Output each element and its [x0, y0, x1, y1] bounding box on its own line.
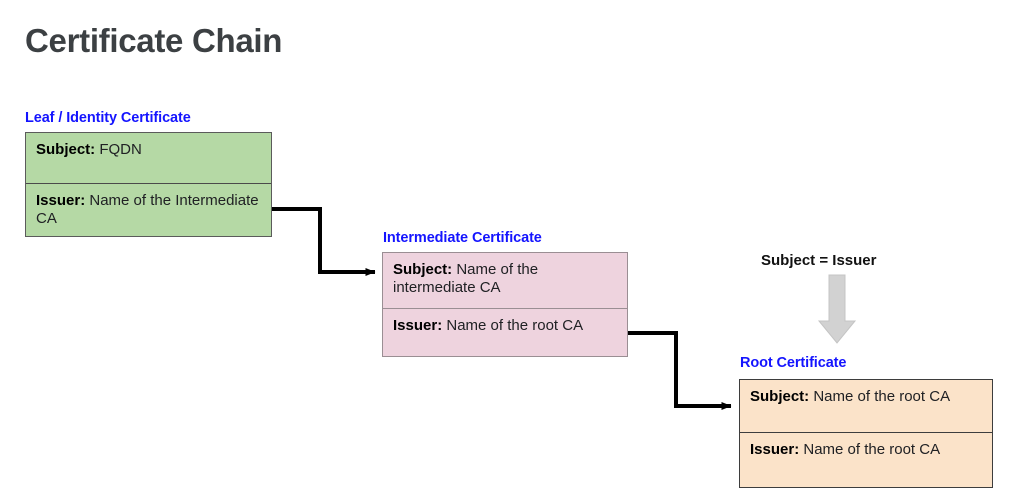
intermediate-issuer-value: Name of the root CA: [446, 317, 583, 334]
connector-intermediate-to-root: [628, 333, 731, 406]
root-certificate-label: Root Certificate: [740, 355, 846, 371]
root-issuer-value: Name of the root CA: [803, 441, 940, 458]
root-certificate-box: Subject: Name of the root CA Issuer: Nam…: [739, 379, 993, 488]
page-title: Certificate Chain: [25, 22, 282, 60]
leaf-certificate-label: Leaf / Identity Certificate: [25, 110, 191, 126]
root-subject-row: Subject: Name of the root CA: [740, 380, 992, 433]
intermediate-issuer-row: Issuer: Name of the root CA: [383, 309, 627, 356]
connector-leaf-to-intermediate: [272, 209, 375, 272]
root-issuer-row: Issuer: Name of the root CA: [740, 433, 992, 487]
root-issuer-field: Issuer:: [750, 441, 803, 458]
leaf-issuer-row: Issuer: Name of the Intermediate CA: [26, 184, 271, 236]
root-subject-field: Subject:: [750, 388, 813, 405]
root-subject-value: Name of the root CA: [813, 388, 950, 405]
intermediate-subject-field: Subject:: [393, 261, 456, 278]
intermediate-certificate-box: Subject: Name of the intermediate CA Iss…: [382, 252, 628, 357]
intermediate-subject-row: Subject: Name of the intermediate CA: [383, 253, 627, 309]
leaf-subject-row: Subject: FQDN: [26, 133, 271, 184]
leaf-subject-field: Subject:: [36, 141, 99, 158]
leaf-subject-value: FQDN: [99, 141, 142, 158]
leaf-certificate-box: Subject: FQDN Issuer: Name of the Interm…: [25, 132, 272, 237]
leaf-issuer-field: Issuer:: [36, 192, 89, 209]
subject-equals-issuer-note: Subject = Issuer: [761, 252, 876, 269]
intermediate-certificate-label: Intermediate Certificate: [383, 230, 542, 246]
self-signed-down-arrow-icon: [819, 275, 855, 343]
intermediate-issuer-field: Issuer:: [393, 317, 446, 334]
